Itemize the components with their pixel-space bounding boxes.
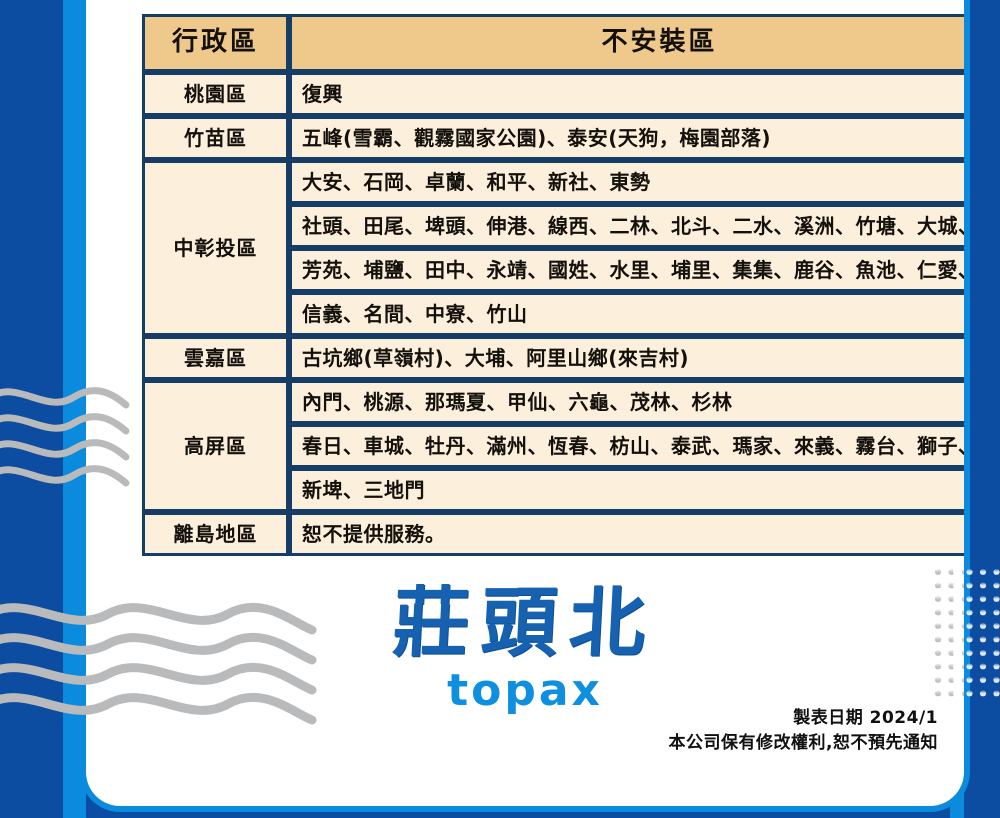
areas-cell: 內門、桃源、那瑪夏、甲仙、六龜、茂林、杉林: [289, 380, 964, 424]
table-row: 離島地區恕不提供服務。: [142, 512, 964, 556]
table-body: 桃園區復興竹苗區五峰(雪霸、觀霧國家公園)、泰安(天狗，梅園部落)中彰投區大安、…: [142, 72, 964, 556]
areas-cell: 信義、名間、中寮、竹山: [289, 292, 964, 336]
table-row: 雲嘉區古坑鄉(草嶺村)、大埔、阿里山鄉(來吉村): [142, 336, 964, 380]
region-cell: 中彰投區: [142, 160, 289, 336]
footer-date-line: 製表日期 2024/1: [669, 706, 938, 731]
logo-chinese-text: 莊頭北: [86, 585, 964, 661]
brand-logo: 莊頭北 topax: [86, 585, 964, 716]
region-cell: 離島地區: [142, 512, 289, 556]
content-card: 行政區 不安裝區 桃園區復興竹苗區五峰(雪霸、觀霧國家公園)、泰安(天狗，梅園部…: [86, 0, 964, 806]
areas-cell: 恕不提供服務。: [289, 512, 964, 556]
table-container: 行政區 不安裝區 桃園區復興竹苗區五峰(雪霸、觀霧國家公園)、泰安(天狗，梅園部…: [86, 14, 958, 556]
table-row: 竹苗區五峰(雪霸、觀霧國家公園)、泰安(天狗，梅園部落): [142, 116, 964, 160]
table-header-row: 行政區 不安裝區: [142, 14, 964, 72]
areas-cell: 古坑鄉(草嶺村)、大埔、阿里山鄉(來吉村): [289, 336, 964, 380]
footer-notice: 製表日期 2024/1 本公司保有修改權利,恕不預先通知: [669, 706, 938, 755]
areas-cell: 芳苑、埔鹽、田中、永靖、國姓、水里、埔里、集集、鹿谷、魚池、仁愛、: [289, 248, 964, 292]
left-blue-band: [0, 0, 63, 818]
areas-cell: 復興: [289, 72, 964, 116]
region-cell: 桃園區: [142, 72, 289, 116]
table-row: 高屏區內門、桃源、那瑪夏、甲仙、六龜、茂林、杉林: [142, 380, 964, 424]
table-head: 行政區 不安裝區: [142, 14, 964, 72]
footer-disclaimer-line: 本公司保有修改權利,恕不預先通知: [669, 731, 938, 756]
areas-cell: 五峰(雪霸、觀霧國家公園)、泰安(天狗，梅園部落): [289, 116, 964, 160]
table-row: 桃園區復興: [142, 72, 964, 116]
region-cell: 雲嘉區: [142, 336, 289, 380]
areas-cell: 社頭、田尾、埤頭、伸港、線西、二林、北斗、二水、溪洲、竹塘、大城、: [289, 204, 964, 248]
areas-cell: 春日、車城、牡丹、滿州、恆春、枋山、泰武、瑪家、來義、霧台、獅子、: [289, 424, 964, 468]
non-service-area-table: 行政區 不安裝區 桃園區復興竹苗區五峰(雪霸、觀霧國家公園)、泰安(天狗，梅園部…: [142, 14, 964, 556]
region-cell: 竹苗區: [142, 116, 289, 160]
table-row: 中彰投區大安、石岡、卓蘭、和平、新社、東勢: [142, 160, 964, 204]
column-header-region: 行政區: [142, 14, 289, 72]
region-cell: 高屏區: [142, 380, 289, 512]
dot-grid-decoration-blue: [952, 568, 1000, 698]
areas-cell: 大安、石岡、卓蘭、和平、新社、東勢: [289, 160, 964, 204]
column-header-areas: 不安裝區: [289, 14, 964, 72]
areas-cell: 新埤、三地門: [289, 468, 964, 512]
